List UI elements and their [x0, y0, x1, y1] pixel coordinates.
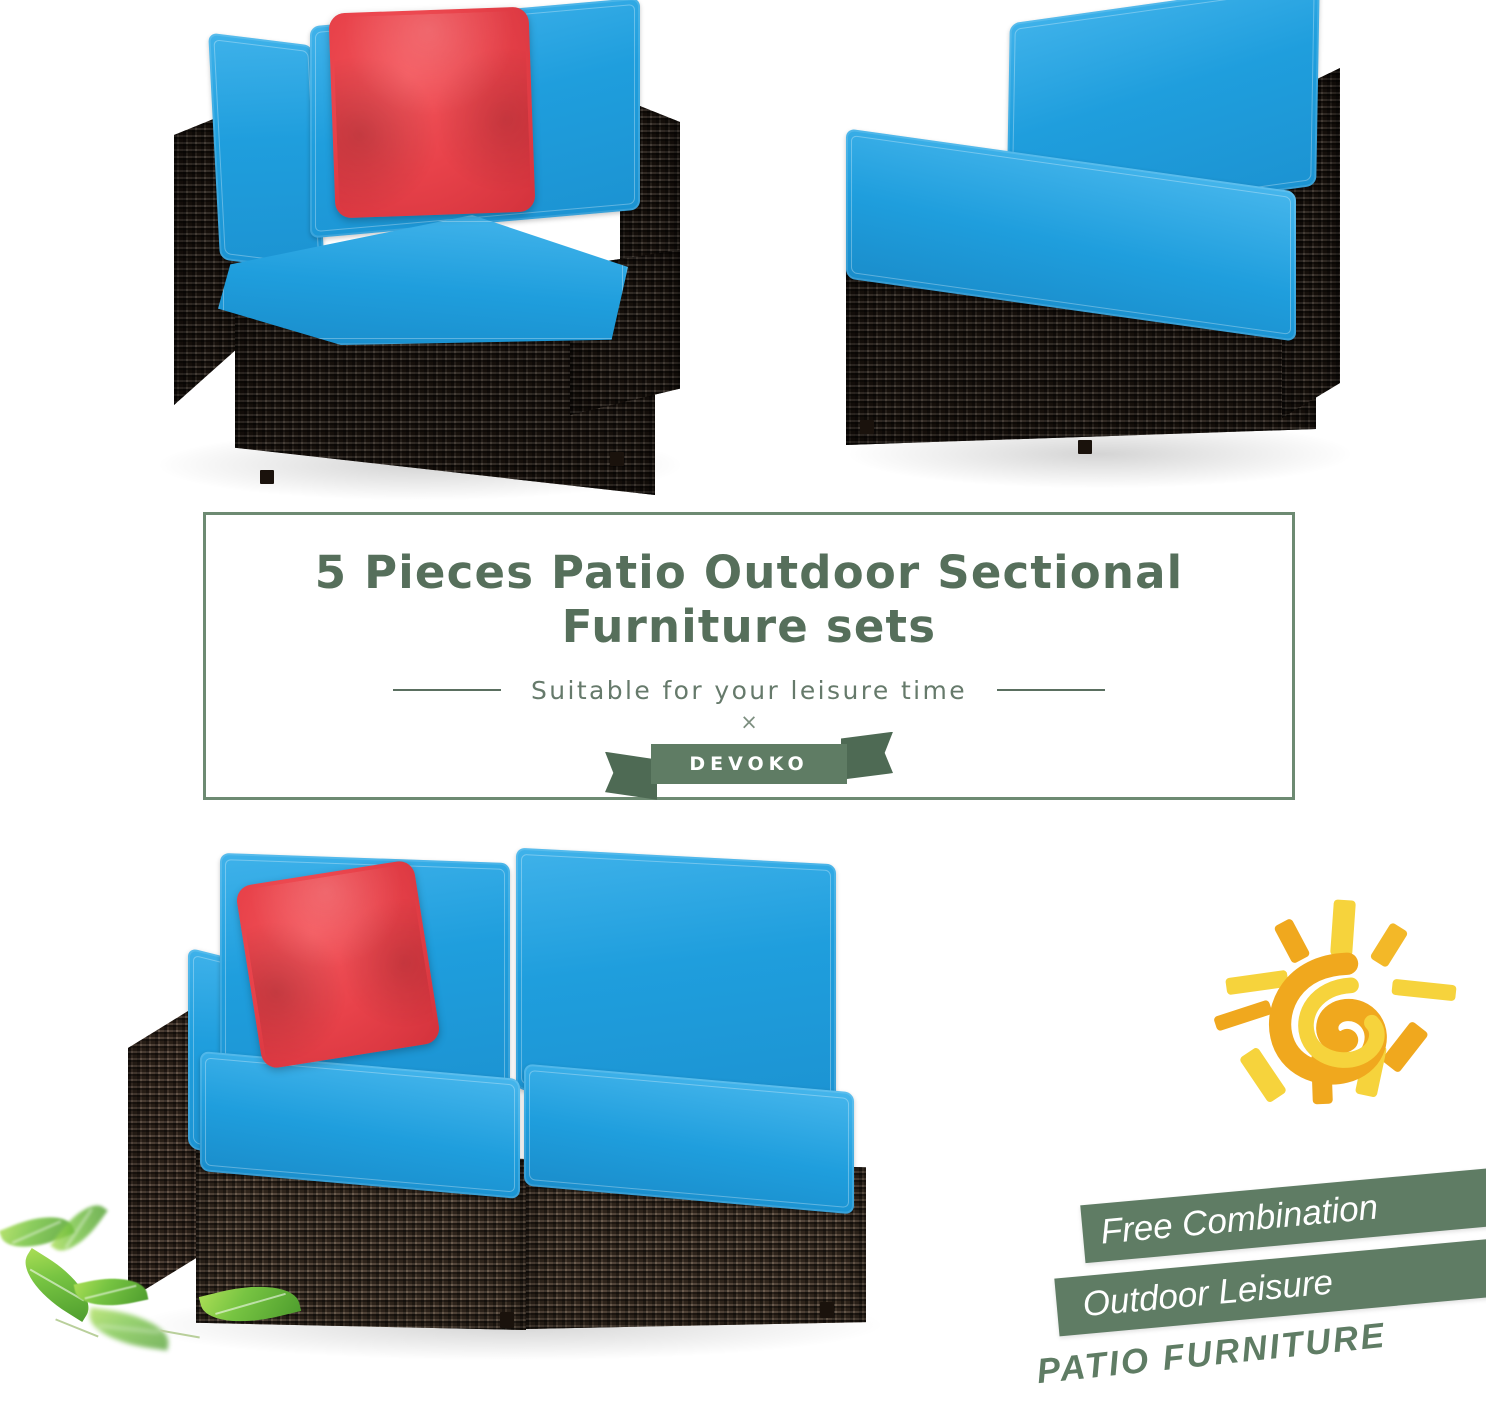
chair-foot — [260, 470, 274, 484]
throw-pillow — [328, 7, 535, 219]
title-line-1: 5 Pieces Patio Outdoor Sectional — [206, 550, 1292, 596]
title-card: 5 Pieces Patio Outdoor Sectional Furnitu… — [203, 512, 1295, 800]
feature-banner-label: Free Combination — [1099, 1188, 1380, 1253]
sofa-foot — [820, 1302, 834, 1318]
product-infographic: 5 Pieces Patio Outdoor Sectional Furnitu… — [0, 0, 1486, 1414]
sun-spiral-icon — [1204, 898, 1466, 1148]
sofa-foot — [500, 1312, 514, 1328]
chair-foot — [860, 420, 874, 434]
sun-icon — [1204, 898, 1466, 1148]
ribbon-tail-left-icon — [605, 752, 657, 800]
throw-pillow — [235, 859, 442, 1070]
feature-banner-label: Outdoor Leisure — [1081, 1262, 1335, 1325]
chair-foot — [610, 452, 624, 466]
chair-foot — [1078, 440, 1092, 454]
title-line-2: Furniture sets — [206, 604, 1292, 650]
subtitle: Suitable for your leisure time — [531, 676, 967, 705]
product-armless-chair — [830, 0, 1390, 490]
cross-mark-icon: × — [206, 710, 1292, 734]
leaf-decoration-group — [0, 1215, 330, 1414]
ribbon-body-icon: DEVOKO — [651, 744, 847, 784]
back-cushion-left — [208, 33, 325, 273]
brand-ribbon: DEVOKO — [206, 736, 1292, 798]
divider-rule-left — [393, 689, 501, 691]
divider-rule-right — [997, 689, 1105, 691]
subtitle-row: Suitable for your leisure time — [206, 676, 1292, 705]
ribbon-tail-right-icon — [841, 732, 893, 780]
brand-name: DEVOKO — [651, 744, 847, 784]
product-corner-chair — [140, 0, 700, 500]
leaf-icon — [86, 1307, 172, 1350]
leaf-icon — [199, 1274, 301, 1334]
